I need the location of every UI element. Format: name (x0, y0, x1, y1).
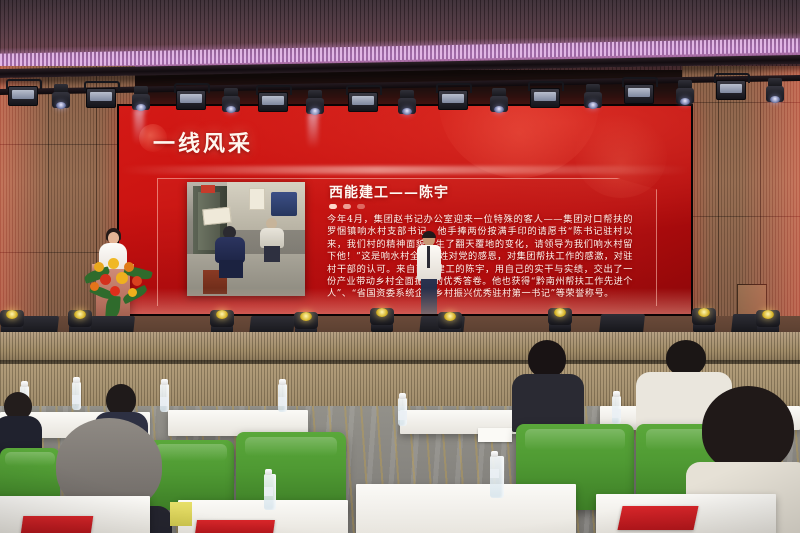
red-program-card[interactable] (195, 520, 275, 533)
paper-sheet[interactable] (478, 428, 512, 442)
water-bottle-icon[interactable] (264, 474, 276, 510)
spotlight-icon (716, 80, 746, 100)
photo-notebook (202, 207, 232, 226)
wall-seam (718, 66, 719, 356)
table-row (356, 484, 576, 533)
spotlight-icon (530, 88, 560, 108)
moving-head-light-icon (222, 88, 240, 114)
moving-head-light-icon (52, 84, 70, 110)
moving-head-light-icon (68, 308, 92, 334)
light-beam (134, 110, 144, 144)
moving-head-light-icon (756, 308, 780, 334)
spotlight-icon (258, 92, 288, 112)
slide-heading: 西能建工——陈宇 (329, 182, 449, 202)
water-bottle-icon[interactable] (160, 384, 169, 412)
moving-head-light-icon (210, 308, 234, 334)
light-beam (308, 114, 318, 148)
slide-photo (187, 182, 305, 296)
photo-red-sign (201, 185, 215, 193)
water-bottle-icon[interactable] (278, 384, 287, 412)
moving-head-light-icon (370, 306, 394, 332)
moving-head-light-icon (490, 88, 508, 114)
audience-person (508, 340, 586, 430)
slide-canvas: 一线风采 西能建工——陈宇 (119, 106, 691, 314)
moving-head-light-icon (548, 306, 572, 332)
moving-head-light-icon (692, 306, 716, 332)
spotlight-icon (348, 92, 378, 112)
red-program-card[interactable] (617, 506, 698, 530)
water-bottle-icon[interactable] (72, 382, 81, 410)
photo-poster (249, 188, 265, 210)
moving-head-light-icon (0, 308, 24, 334)
slide-title: 一线风采 (153, 126, 253, 158)
floral-arrangement (84, 248, 150, 308)
conference-hall-scene: 一线风采 西能建工——陈宇 (0, 0, 800, 533)
slide-decor-sheen (119, 166, 691, 174)
spotlight-icon (86, 88, 116, 108)
red-program-card[interactable] (21, 516, 94, 533)
water-bottle-icon[interactable] (490, 456, 504, 498)
photo-party-secretary (213, 226, 247, 278)
spotlight-icon (176, 90, 206, 110)
slide-bottom-glow (119, 288, 691, 314)
slide-dot-ornament (329, 204, 365, 209)
water-bottle-icon[interactable] (612, 396, 621, 424)
tissue-box[interactable] (170, 502, 192, 526)
led-stage-screen: 一线风采 西能建工——陈宇 (117, 104, 693, 316)
moving-head-light-icon (766, 78, 784, 104)
water-bottle-icon[interactable] (398, 398, 407, 426)
spotlight-icon (624, 84, 654, 104)
spotlight-icon (8, 86, 38, 106)
photo-elder-villager (259, 218, 285, 264)
stage-monitor-speaker (599, 314, 645, 334)
moving-head-light-icon (132, 86, 150, 112)
spotlight-icon (438, 90, 468, 110)
moving-head-light-icon (398, 90, 416, 116)
moving-head-light-icon (306, 90, 324, 116)
photo-hanging-clothes (271, 192, 297, 216)
moving-head-light-icon (676, 80, 694, 106)
moving-head-light-icon (584, 84, 602, 110)
